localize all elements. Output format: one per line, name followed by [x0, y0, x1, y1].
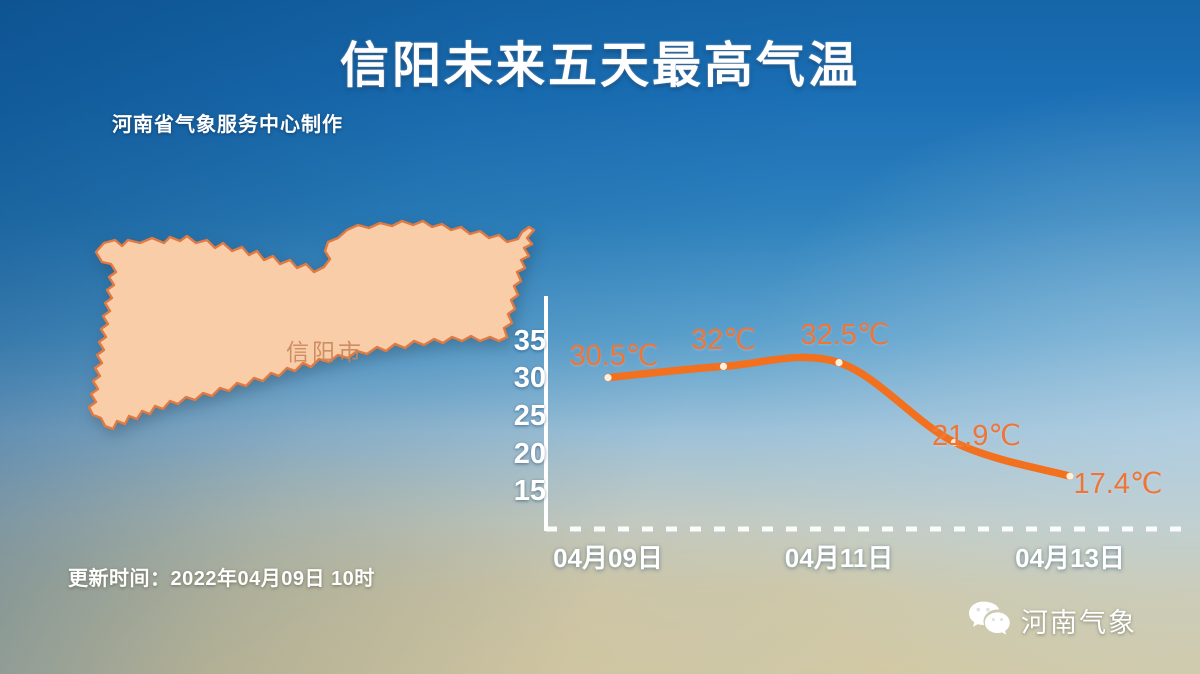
- data-point-label: 21.9℃: [932, 418, 1021, 453]
- data-point-label: 17.4℃: [1073, 466, 1162, 501]
- map-region-label: 信阳市: [286, 333, 364, 367]
- data-point-label: 32.5℃: [800, 317, 889, 352]
- data-point-label: 30.5℃: [569, 338, 658, 373]
- y-axis-tick: 30: [498, 362, 546, 395]
- data-point-label: 32℃: [691, 322, 756, 357]
- wechat-watermark: 河南气象: [968, 600, 1137, 641]
- temperature-line-chart: 3530252015 04月09日04月11日04月13日 30.5℃32℃32…: [498, 288, 1188, 548]
- y-axis-tick: 35: [498, 325, 546, 358]
- data-point: [604, 374, 611, 381]
- map-shape: [89, 221, 534, 429]
- page-title: 信阳未来五天最高气温: [0, 26, 1200, 97]
- y-axis-tick: 25: [498, 400, 546, 433]
- x-axis-tick: 04月09日: [553, 538, 663, 575]
- x-axis-tick: 04月11日: [785, 538, 893, 575]
- temperature-series-line: [608, 357, 1070, 476]
- y-axis-tick: 20: [498, 438, 546, 471]
- data-point: [720, 363, 727, 370]
- watermark-label: 河南气象: [1021, 601, 1137, 640]
- update-timestamp: 更新时间：2022年04月09日 10时: [68, 562, 375, 591]
- y-axis-tick: 15: [498, 475, 546, 508]
- x-axis-tick: 04月13日: [1015, 538, 1125, 575]
- page-subtitle: 河南省气象服务中心制作: [112, 108, 343, 137]
- data-point: [835, 359, 842, 366]
- wechat-icon: [968, 600, 1010, 641]
